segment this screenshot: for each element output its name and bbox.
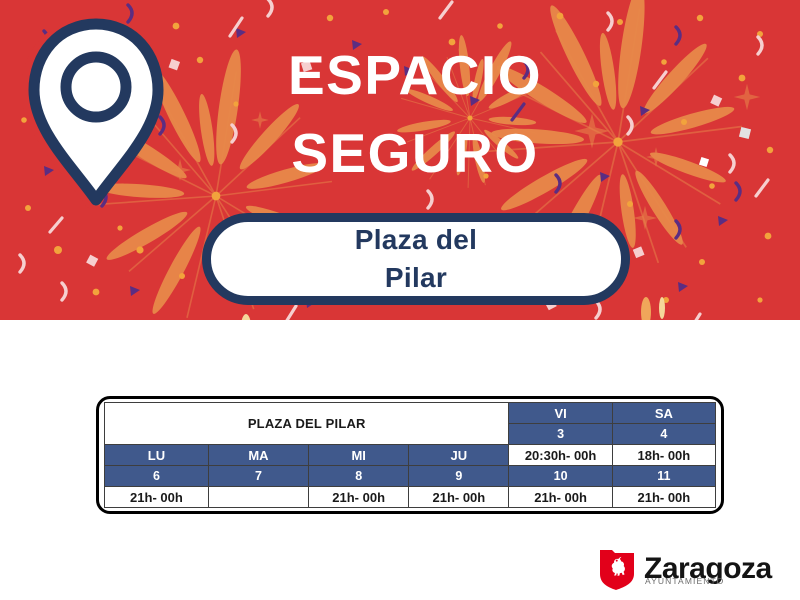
date-cell-sa-4: 4 <box>612 424 715 445</box>
place-name-line-1: Plaza del <box>355 221 478 259</box>
day-cell-mi: MI <box>309 445 409 466</box>
hours-cell-mi-8: 21h- 00h <box>309 487 409 508</box>
logo-subtitle: AYUNTAMIENTO <box>645 576 724 586</box>
poster-page: ESPACIO SEGURO Plaza del Pilar PLAZA DEL… <box>0 0 800 600</box>
venue-label-cell: PLAZA DEL PILAR <box>105 403 509 445</box>
date-cell-mi-8: 8 <box>309 466 409 487</box>
day-cell-vi: VI <box>509 403 612 424</box>
page-title: ESPACIO SEGURO <box>200 36 630 192</box>
schedule-table: PLAZA DEL PILAR VI SA 3 4 LU MA MI JU 20… <box>104 402 716 508</box>
date-cell-ma-7: 7 <box>208 466 308 487</box>
hours-cell-vi-10: 21h- 00h <box>509 487 612 508</box>
day-cell-ju: JU <box>409 445 509 466</box>
place-name-pill: Plaza del Pilar <box>202 213 630 305</box>
table-row-weekdays-and-weekend-hours: LU MA MI JU 20:30h- 00h 18h- 00h <box>105 445 716 466</box>
hours-cell-vi-3: 20:30h- 00h <box>509 445 612 466</box>
day-cell-sa: SA <box>612 403 715 424</box>
location-pin-icon <box>18 14 170 214</box>
date-cell-vi-10: 10 <box>509 466 612 487</box>
hours-cell-lu-6: 21h- 00h <box>105 487 209 508</box>
title-line-2: SEGURO <box>200 114 630 192</box>
hours-cell-sa-11: 21h- 00h <box>612 487 715 508</box>
title-line-1: ESPACIO <box>200 36 630 114</box>
zaragoza-lion-shield-icon <box>598 547 636 591</box>
place-name-line-2: Pilar <box>385 259 447 297</box>
date-cell-vi-3: 3 <box>509 424 612 445</box>
date-cell-lu-6: 6 <box>105 466 209 487</box>
date-cell-ju-9: 9 <box>409 466 509 487</box>
day-cell-ma: MA <box>208 445 308 466</box>
day-cell-lu: LU <box>105 445 209 466</box>
date-cell-sa-11: 11 <box>612 466 715 487</box>
zaragoza-logo-text: Zaragoza AYUNTAMIENTO <box>644 554 772 584</box>
hours-cell-ma-7 <box>208 487 308 508</box>
hours-cell-sa-4: 18h- 00h <box>612 445 715 466</box>
table-row-week2-hours: 21h- 00h 21h- 00h 21h- 00h 21h- 00h 21h-… <box>105 487 716 508</box>
hours-cell-ju-9: 21h- 00h <box>409 487 509 508</box>
hero-banner: ESPACIO SEGURO Plaza del Pilar <box>0 0 800 320</box>
table-row-week2-dates: 6 7 8 9 10 11 <box>105 466 716 487</box>
table-row-venue-and-weekend-days: PLAZA DEL PILAR VI SA <box>105 403 716 424</box>
zaragoza-logo: Zaragoza AYUNTAMIENTO <box>598 546 788 592</box>
